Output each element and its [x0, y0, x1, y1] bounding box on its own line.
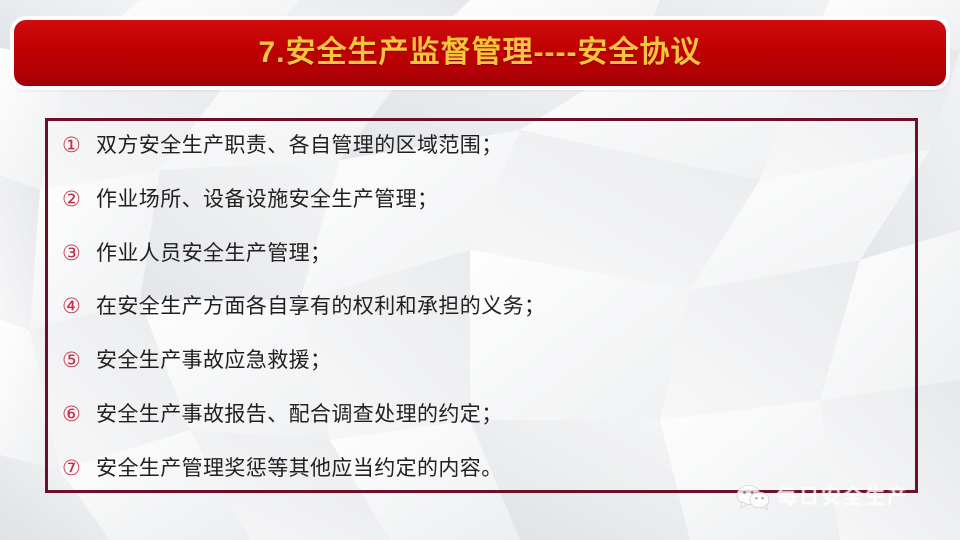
list-item: ④ 在安全生产方面各自享有的权利和承担的义务； [56, 296, 897, 318]
list-item-text: 在安全生产方面各自享有的权利和承担的义务； [96, 296, 545, 318]
list-item-marker: ③ [62, 243, 96, 264]
list-item-marker: ⑤ [62, 350, 96, 371]
content-box: ① 双方安全生产职责、各自管理的区域范围； ② 作业场所、设备设施安全生产管理；… [45, 118, 918, 493]
list-item-text: 安全生产管理奖惩等其他应当约定的内容。 [96, 458, 503, 480]
list-item-text: 作业人员安全生产管理； [96, 243, 331, 265]
list-item-text: 双方安全生产职责、各自管理的区域范围； [96, 135, 503, 157]
list-item: ② 作业场所、设备设施安全生产管理； [56, 189, 897, 211]
agreement-list: ① 双方安全生产职责、各自管理的区域范围； ② 作业场所、设备设施安全生产管理；… [56, 135, 897, 480]
list-item-text: 作业场所、设备设施安全生产管理； [96, 189, 438, 211]
list-item: ⑦ 安全生产管理奖惩等其他应当约定的内容。 [56, 458, 897, 480]
slide-canvas: 7.安全生产监督管理----安全协议 ① 双方安全生产职责、各自管理的区域范围；… [0, 0, 960, 540]
watermark-text: 每日安全生产 [777, 487, 909, 507]
list-item: ① 双方安全生产职责、各自管理的区域范围； [56, 135, 897, 157]
list-item-marker: ④ [62, 296, 96, 317]
slide-title: 7.安全生产监督管理----安全协议 [259, 38, 702, 68]
watermark: 每日安全生产 [736, 484, 909, 510]
list-item: ③ 作业人员安全生产管理； [56, 243, 897, 265]
list-item-marker: ⑥ [62, 404, 96, 425]
list-item-text: 安全生产事故应急救援； [96, 350, 331, 372]
title-banner: 7.安全生产监督管理----安全协议 [14, 20, 946, 86]
list-item-marker: ② [62, 189, 96, 210]
list-item-text: 安全生产事故报告、配合调查处理的约定； [96, 404, 503, 426]
list-item-marker: ① [62, 135, 96, 156]
list-item: ⑥ 安全生产事故报告、配合调查处理的约定； [56, 404, 897, 426]
list-item-marker: ⑦ [62, 458, 96, 479]
list-item: ⑤ 安全生产事故应急救援； [56, 350, 897, 372]
wechat-icon [736, 484, 770, 510]
